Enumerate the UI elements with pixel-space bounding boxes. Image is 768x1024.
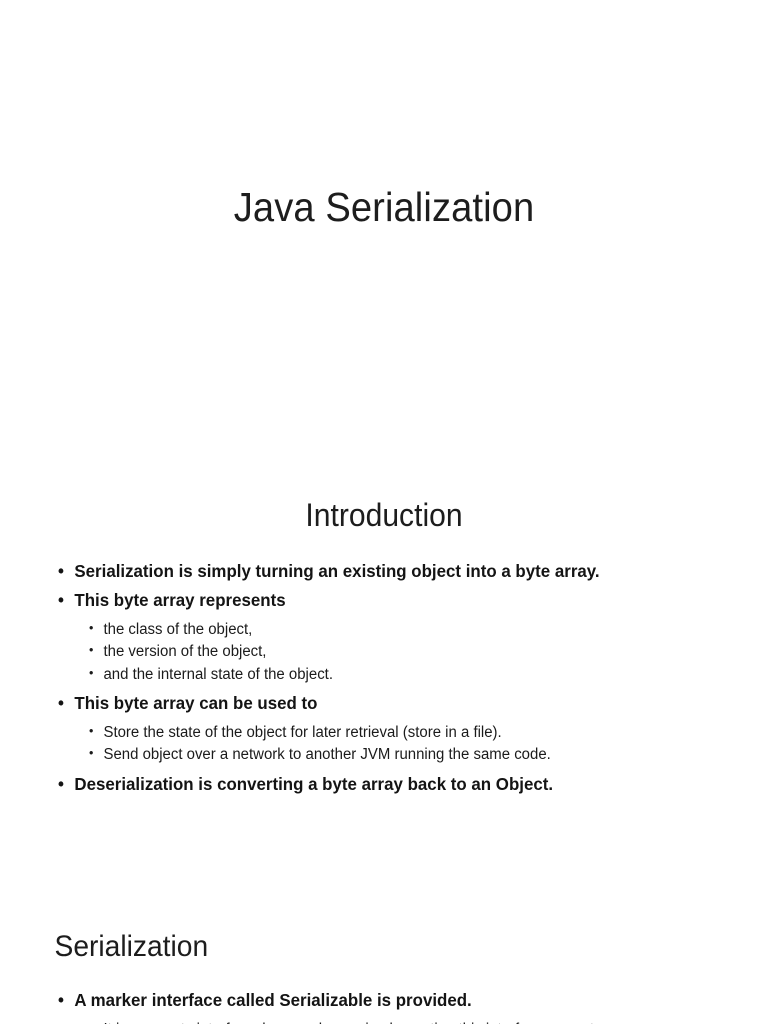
bullet-level2-label: Send object over a network to another JV… [103, 746, 550, 763]
bullet-level1: • A marker interface called Serializable… [58, 989, 724, 1012]
introduction-heading: Introduction [23, 497, 745, 534]
serialization-bullet-list: • A marker interface called Serializable… [0, 989, 768, 1024]
bullet-level2: • Store the state of the object for late… [89, 722, 706, 744]
bullet-dot-icon: • [58, 989, 64, 1012]
bullet-dot-icon: • [89, 641, 93, 660]
bullet-level1: • Deserialization is converting a byte a… [58, 773, 705, 796]
list-item: • Store the state of the object for late… [89, 722, 728, 744]
bullet-level2-label: the class of the object, [103, 621, 252, 638]
bullet-level2-label: and the internal state of the object. [103, 666, 333, 683]
bullet-level1-label: Deserialization is converting a byte arr… [74, 774, 553, 794]
bullet-level1-label: This byte array represents [74, 590, 285, 610]
title-slide: Java Serialization [0, 158, 768, 259]
bullet-level2: • the version of the object, [89, 641, 706, 663]
introduction-bullet-list: • Serialization is simply turning an exi… [0, 560, 768, 796]
bullet-level2-label: the version of the object, [103, 643, 266, 660]
list-item: • This byte array represents • the class… [58, 589, 728, 686]
bullet-level1: • This byte array can be used to [58, 692, 705, 715]
sub-bullet-list: • the class of the object, • the version… [58, 619, 728, 686]
introduction-slide: Introduction • Serialization is simply t… [0, 470, 768, 802]
list-item: • It is an empty interface, hence, class… [89, 1019, 748, 1024]
serialization-slide: Serialization • A marker interface calle… [0, 905, 768, 1024]
deck-title: Java Serialization [27, 185, 741, 231]
bullet-dot-icon: • [89, 664, 93, 683]
list-item: • Serialization is simply turning an exi… [58, 560, 728, 583]
list-item: • Deserialization is converting a byte a… [58, 773, 728, 796]
bullet-level1-label: This byte array can be used to [74, 693, 317, 713]
list-item: • the class of the object, [89, 619, 728, 641]
bullet-dot-icon: • [58, 560, 64, 583]
bullet-dot-icon: • [89, 722, 93, 741]
bullet-level2-label: Store the state of the object for later … [103, 724, 501, 741]
list-item: • A marker interface called Serializable… [58, 989, 748, 1024]
sub-bullet-list: • It is an empty interface, hence, class… [58, 1019, 748, 1024]
sub-bullet-list: • Store the state of the object for late… [58, 722, 728, 767]
bullet-dot-icon: • [58, 692, 64, 715]
serialization-heading: Serialization [0, 930, 722, 965]
bullet-level2: • the class of the object, [89, 619, 706, 641]
bullet-dot-icon: • [58, 589, 64, 612]
bullet-level2: • and the internal state of the object. [89, 664, 706, 686]
bullet-level2: • Send object over a network to another … [89, 744, 706, 766]
document-page: Java Serialization Introduction • Serial… [0, 0, 768, 1024]
bullet-level1: • This byte array represents [58, 589, 705, 612]
list-item: • the version of the object, [89, 641, 728, 663]
list-item: • and the internal state of the object. [89, 664, 728, 686]
bullet-dot-icon: • [89, 1019, 93, 1024]
list-item: • This byte array can be used to • Store… [58, 692, 728, 766]
bullet-dot-icon: • [58, 773, 64, 796]
bullet-level1-label: A marker interface called Serializable i… [74, 990, 471, 1010]
bullet-level2: • It is an empty interface, hence, class… [89, 1019, 725, 1024]
bullet-level1-label: Serialization is simply turning an exist… [74, 561, 599, 581]
bullet-level1: • Serialization is simply turning an exi… [58, 560, 705, 583]
bullet-dot-icon: • [89, 619, 93, 638]
bullet-dot-icon: • [89, 744, 93, 763]
list-item: • Send object over a network to another … [89, 744, 728, 766]
